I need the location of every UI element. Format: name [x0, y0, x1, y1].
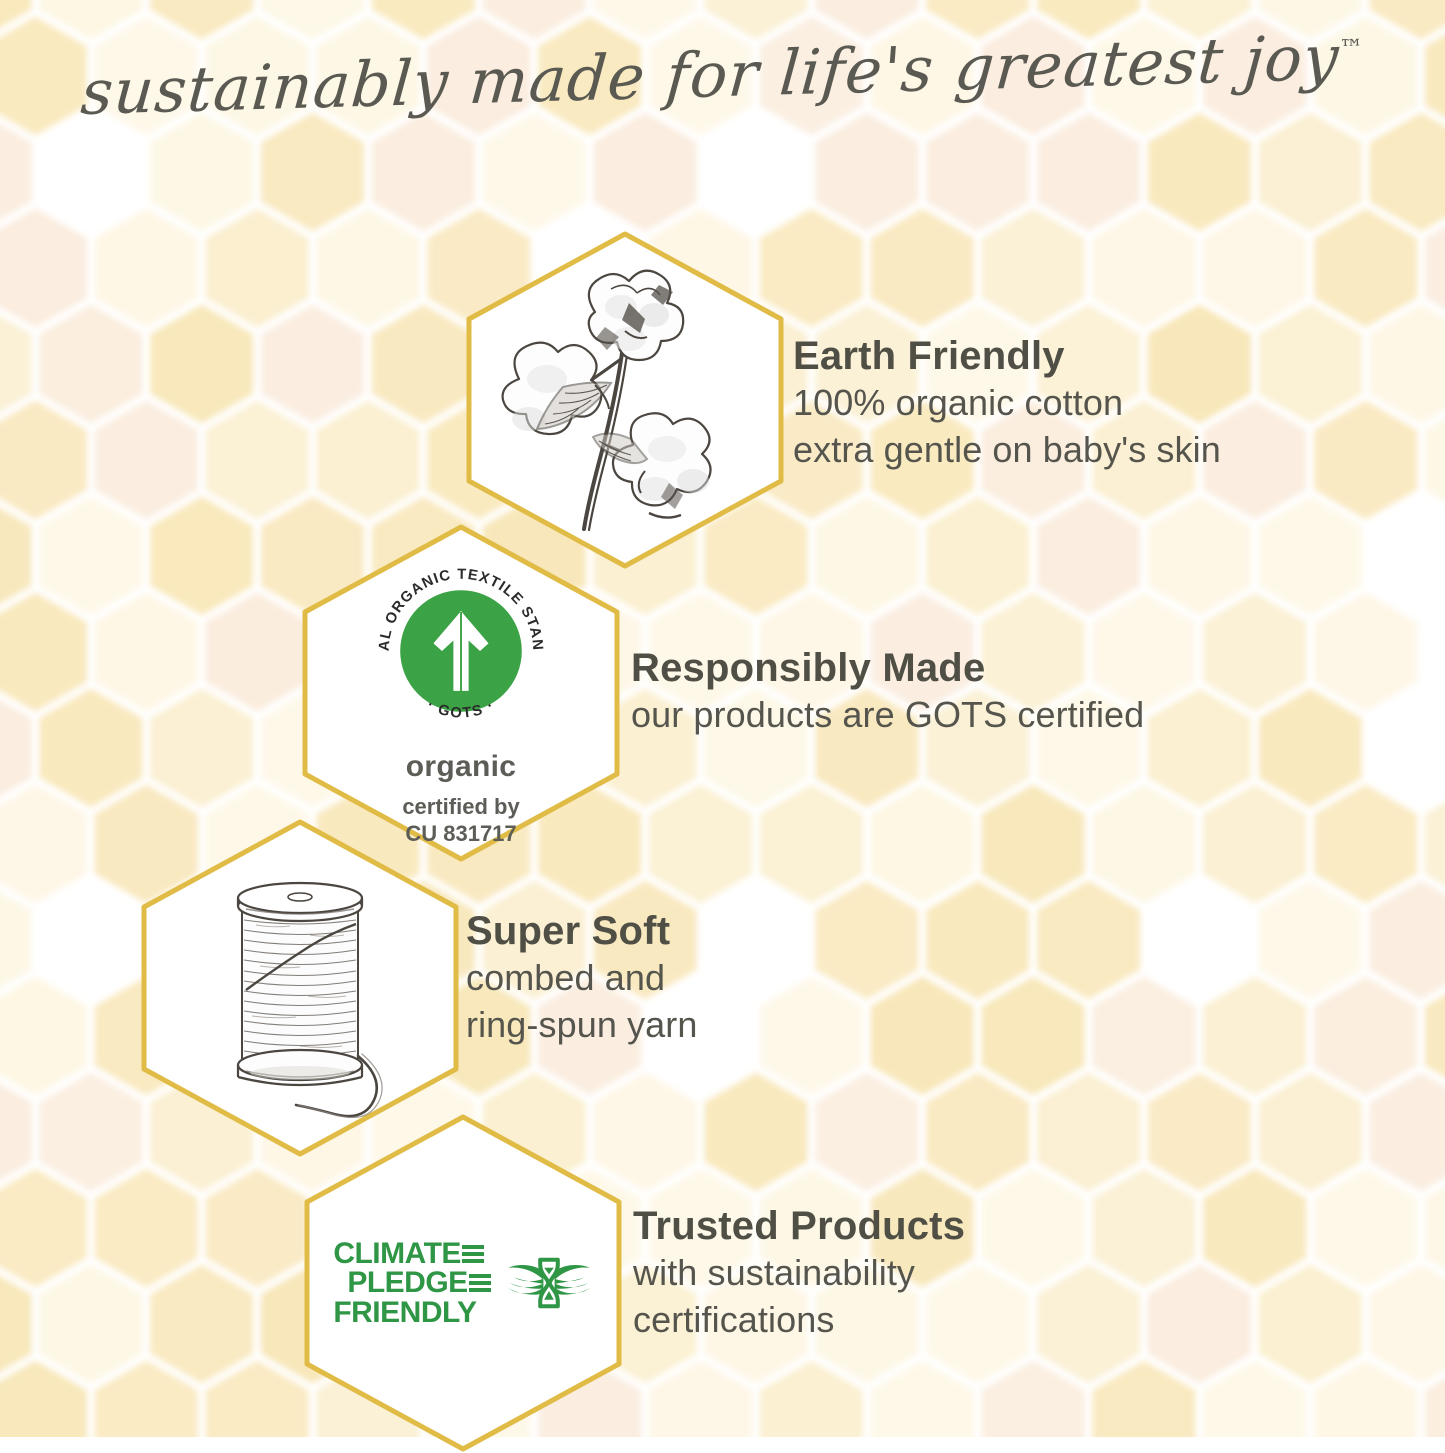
block-title: Earth Friendly: [793, 333, 1221, 380]
gots-organic-seal: GLOBAL ORGANIC TEXTILE STANDARD · GOTS ·…: [331, 556, 591, 848]
text-block-super-soft: Super Soft combed and ring-spun yarn: [466, 908, 698, 1049]
hexagon-trusted-products: CLIMATE PLEDGE FRIENDLY: [303, 1113, 623, 1453]
block-line: our products are GOTS certified: [631, 692, 1144, 739]
cpf-line-1: CLIMATE: [333, 1239, 461, 1268]
gots-organic-label: organic: [406, 750, 516, 784]
block-line: certifications: [633, 1297, 965, 1344]
cpf-bars-icon: [469, 1274, 491, 1292]
hexagon-super-soft: [140, 818, 460, 1158]
gots-green-circle: [400, 590, 522, 712]
headline-text: sustainably made for life's greatest joy: [78, 21, 1342, 129]
hexagon-responsibly-made: GLOBAL ORGANIC TEXTILE STANDARD · GOTS ·…: [301, 523, 621, 863]
cpf-bars-icon: [462, 1245, 484, 1263]
block-line: with sustainability: [633, 1250, 965, 1297]
cpf-line-2: PLEDGE: [347, 1268, 467, 1297]
page-title: sustainably made for life's greatest joy…: [78, 20, 1366, 129]
trademark-symbol: ™: [1339, 34, 1365, 63]
cotton-branch-sketch: [499, 267, 751, 533]
block-title: Trusted Products: [633, 1203, 965, 1250]
block-line: 100% organic cotton: [793, 380, 1221, 427]
climate-pledge-friendly-logo: CLIMATE PLEDGE FRIENDLY: [333, 1239, 592, 1327]
block-title: Super Soft: [466, 908, 698, 955]
text-block-earth-friendly: Earth Friendly 100% organic cotton extra…: [793, 333, 1221, 474]
block-title: Responsibly Made: [631, 645, 1144, 692]
thread-spool-sketch: [190, 868, 410, 1108]
headline-container: sustainably made for life's greatest joy…: [0, 38, 1445, 111]
hexagon-earth-friendly: [465, 230, 785, 570]
cpf-line-3: FRIENDLY: [333, 1298, 476, 1327]
gots-certified-by: certified by: [402, 794, 519, 821]
block-line: combed and: [466, 955, 698, 1002]
block-line: extra gentle on baby's skin: [793, 427, 1221, 474]
text-block-responsibly-made: Responsibly Made our products are GOTS c…: [631, 645, 1144, 739]
text-block-trusted-products: Trusted Products with sustainability cer…: [633, 1203, 965, 1344]
block-line: ring-spun yarn: [466, 1002, 698, 1049]
winged-hourglass-icon: [505, 1247, 593, 1319]
